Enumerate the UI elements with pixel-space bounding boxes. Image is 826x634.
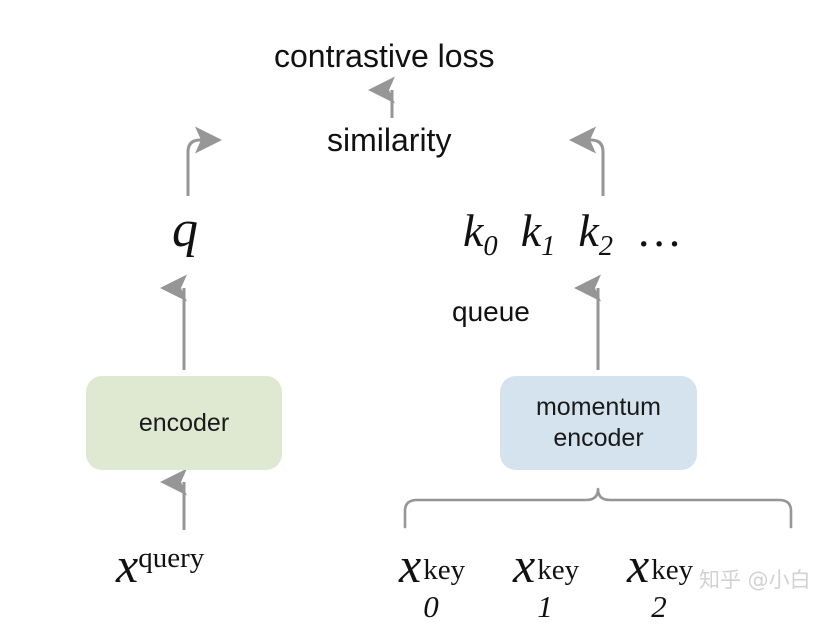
x-key-0-subscript: 0 bbox=[423, 591, 439, 622]
k0-base: k bbox=[463, 205, 483, 256]
x-key-0-superscript: key bbox=[423, 556, 465, 585]
x-query-superscript: query bbox=[138, 542, 204, 574]
momentum-encoder-box[interactable]: momentum encoder bbox=[500, 376, 697, 470]
arrow-k-to-similarity bbox=[572, 140, 603, 196]
x-key-1-label: x key 1 bbox=[513, 540, 535, 590]
k2-base: k bbox=[578, 205, 598, 256]
k0-subscript: 0 bbox=[483, 231, 497, 262]
momentum-encoder-line-2: encoder bbox=[553, 424, 643, 452]
x-key-1-superscript: key bbox=[537, 556, 579, 585]
k1-subscript: 1 bbox=[541, 231, 555, 262]
momentum-encoder-box-label: momentum encoder bbox=[536, 392, 661, 455]
key-features-label: k0 k1 k2 … bbox=[463, 208, 682, 262]
queue-label: queue bbox=[452, 298, 530, 326]
k2-subscript: 2 bbox=[599, 231, 613, 262]
x-key-2-base: x bbox=[627, 537, 649, 593]
encoder-box[interactable]: encoder bbox=[86, 376, 282, 470]
x-query-label: xquery bbox=[116, 540, 204, 590]
x-key-2-subscript: 2 bbox=[651, 591, 667, 622]
query-feature-label: q bbox=[172, 204, 198, 256]
x-key-0-base: x bbox=[399, 537, 421, 593]
x-key-1-subscript: 1 bbox=[537, 591, 553, 622]
momentum-encoder-line-1: momentum bbox=[536, 393, 661, 421]
arrow-q-to-similarity bbox=[188, 140, 219, 196]
x-query-base: x bbox=[116, 537, 138, 593]
keys-ellipsis: … bbox=[636, 205, 682, 256]
x-key-2-superscript: key bbox=[651, 556, 693, 585]
watermark: 知乎 @小白 bbox=[699, 564, 811, 594]
encoder-box-label: encoder bbox=[139, 409, 229, 438]
diagram-canvas: contrastive loss similarity queue q k0 k… bbox=[0, 0, 826, 634]
k1-base: k bbox=[521, 205, 541, 256]
contrastive-loss-label: contrastive loss bbox=[274, 40, 495, 72]
x-key-2-label: x key 2 bbox=[627, 540, 649, 590]
similarity-label: similarity bbox=[327, 124, 451, 156]
brace-xkeys bbox=[405, 489, 791, 527]
x-key-0-label: x key 0 bbox=[399, 540, 421, 590]
x-key-1-base: x bbox=[513, 537, 535, 593]
